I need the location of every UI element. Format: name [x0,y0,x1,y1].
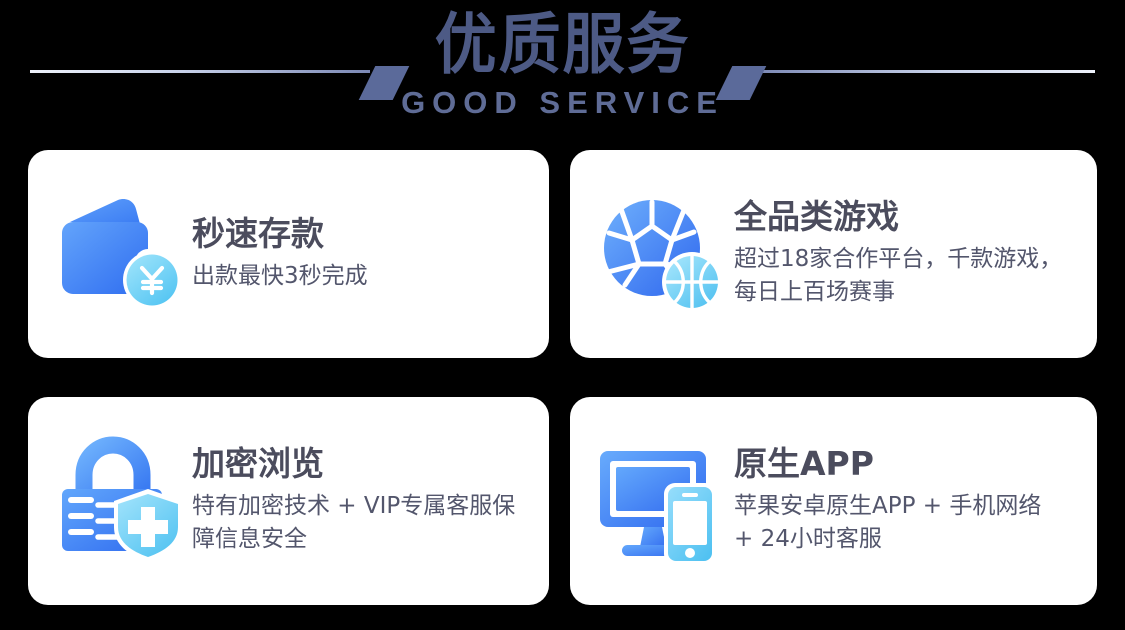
soccer-basketball-icon [596,188,728,320]
lock-shield-icon [54,435,186,567]
card-title: 原生APP [734,444,1064,484]
feature-card-deposit[interactable]: 秒速存款 出款最快3秒完成 [28,150,549,358]
card-text-encryption: 加密浏览 特有加密技术 + VIP专属客服保障信息安全 [186,444,522,558]
page-header: 优质服务 GOOD SERVICE [0,0,1125,140]
card-title: 全品类游戏 [734,197,1079,237]
page-title: 优质服务 [34,8,1092,82]
wallet-coin-icon [54,188,186,320]
card-title: 秒速存款 [192,214,368,254]
feature-card-games[interactable]: 全品类游戏 超过18家合作平台，千款游戏，每日上百场赛事 [570,150,1097,358]
card-subtitle: 苹果安卓原生APP + 手机网络 + 24小时客服 [734,490,1064,556]
page-subtitle: GOOD SERVICE [0,86,1125,120]
card-subtitle: 超过18家合作平台，千款游戏，每日上百场赛事 [734,243,1079,309]
card-subtitle: 特有加密技术 + VIP专属客服保障信息安全 [192,490,522,556]
feature-card-encryption[interactable]: 加密浏览 特有加密技术 + VIP专属客服保障信息安全 [28,397,549,605]
feature-card-grid: 秒速存款 出款最快3秒完成 [28,150,1097,605]
feature-card-native-app[interactable]: 原生APP 苹果安卓原生APP + 手机网络 + 24小时客服 [570,397,1097,605]
header-titles: 优质服务 GOOD SERVICE [0,8,1125,120]
monitor-phone-icon [596,435,728,567]
card-title: 加密浏览 [192,444,522,484]
card-text-games: 全品类游戏 超过18家合作平台，千款游戏，每日上百场赛事 [728,197,1079,311]
card-subtitle: 出款最快3秒完成 [192,260,368,293]
card-text-native-app: 原生APP 苹果安卓原生APP + 手机网络 + 24小时客服 [728,444,1064,558]
card-text-deposit: 秒速存款 出款最快3秒完成 [186,214,368,295]
